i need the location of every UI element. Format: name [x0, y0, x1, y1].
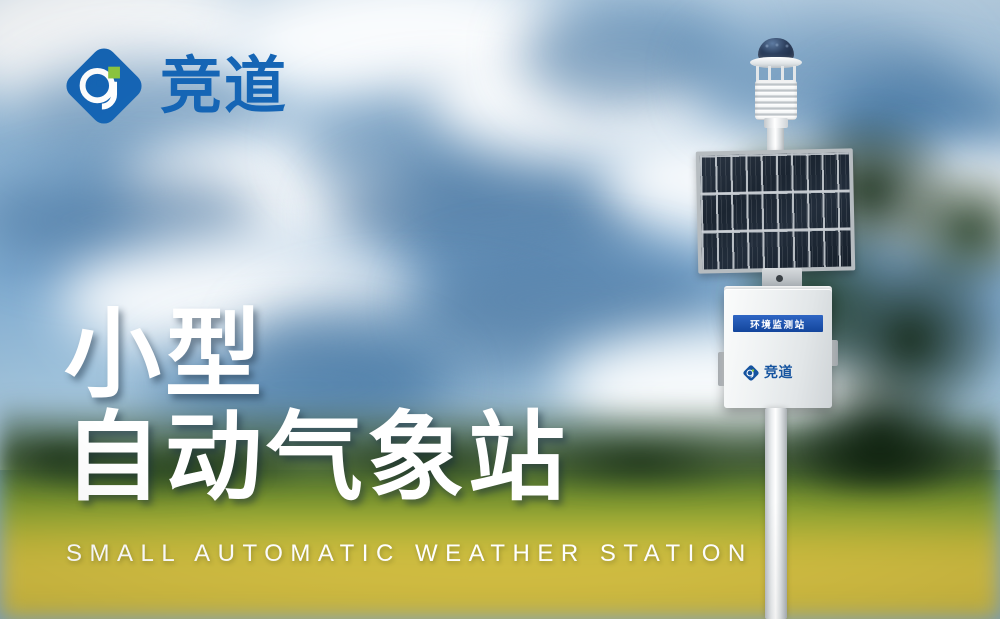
control-box-banner: 环境监测站 [733, 315, 823, 332]
solar-panel-icon [696, 148, 856, 273]
ultrasonic-weather-sensor-icon [748, 38, 804, 126]
headline-block: 小型 自动气象站 [64, 306, 684, 508]
control-box-brand-label: 竞道 [764, 366, 793, 380]
headline-line-2: 自动气象站 [64, 409, 684, 508]
mast-pole-lower-icon [765, 408, 787, 619]
panel-bracket [762, 268, 802, 288]
control-box: 环境监测站 竞道 [724, 289, 832, 408]
radiation-shield [755, 80, 797, 120]
solar-cells [700, 152, 851, 269]
jingdao-diamond-logo [742, 364, 760, 382]
brand-logo[interactable]: 竞道 [62, 44, 288, 128]
product-banner: 环境监测站 竞道 [0, 0, 1000, 619]
jingdao-diamond-logo [62, 44, 146, 128]
headline-line-1: 小型 [64, 306, 684, 405]
control-box-banner-label: 环境监测站 [750, 317, 806, 331]
headline-subtitle: SMALL AUTOMATIC WEATHER STATION [66, 540, 753, 568]
brand-name: 竞道 [160, 55, 288, 117]
sensor-base [764, 118, 788, 128]
control-box-brand: 竞道 [742, 363, 818, 383]
